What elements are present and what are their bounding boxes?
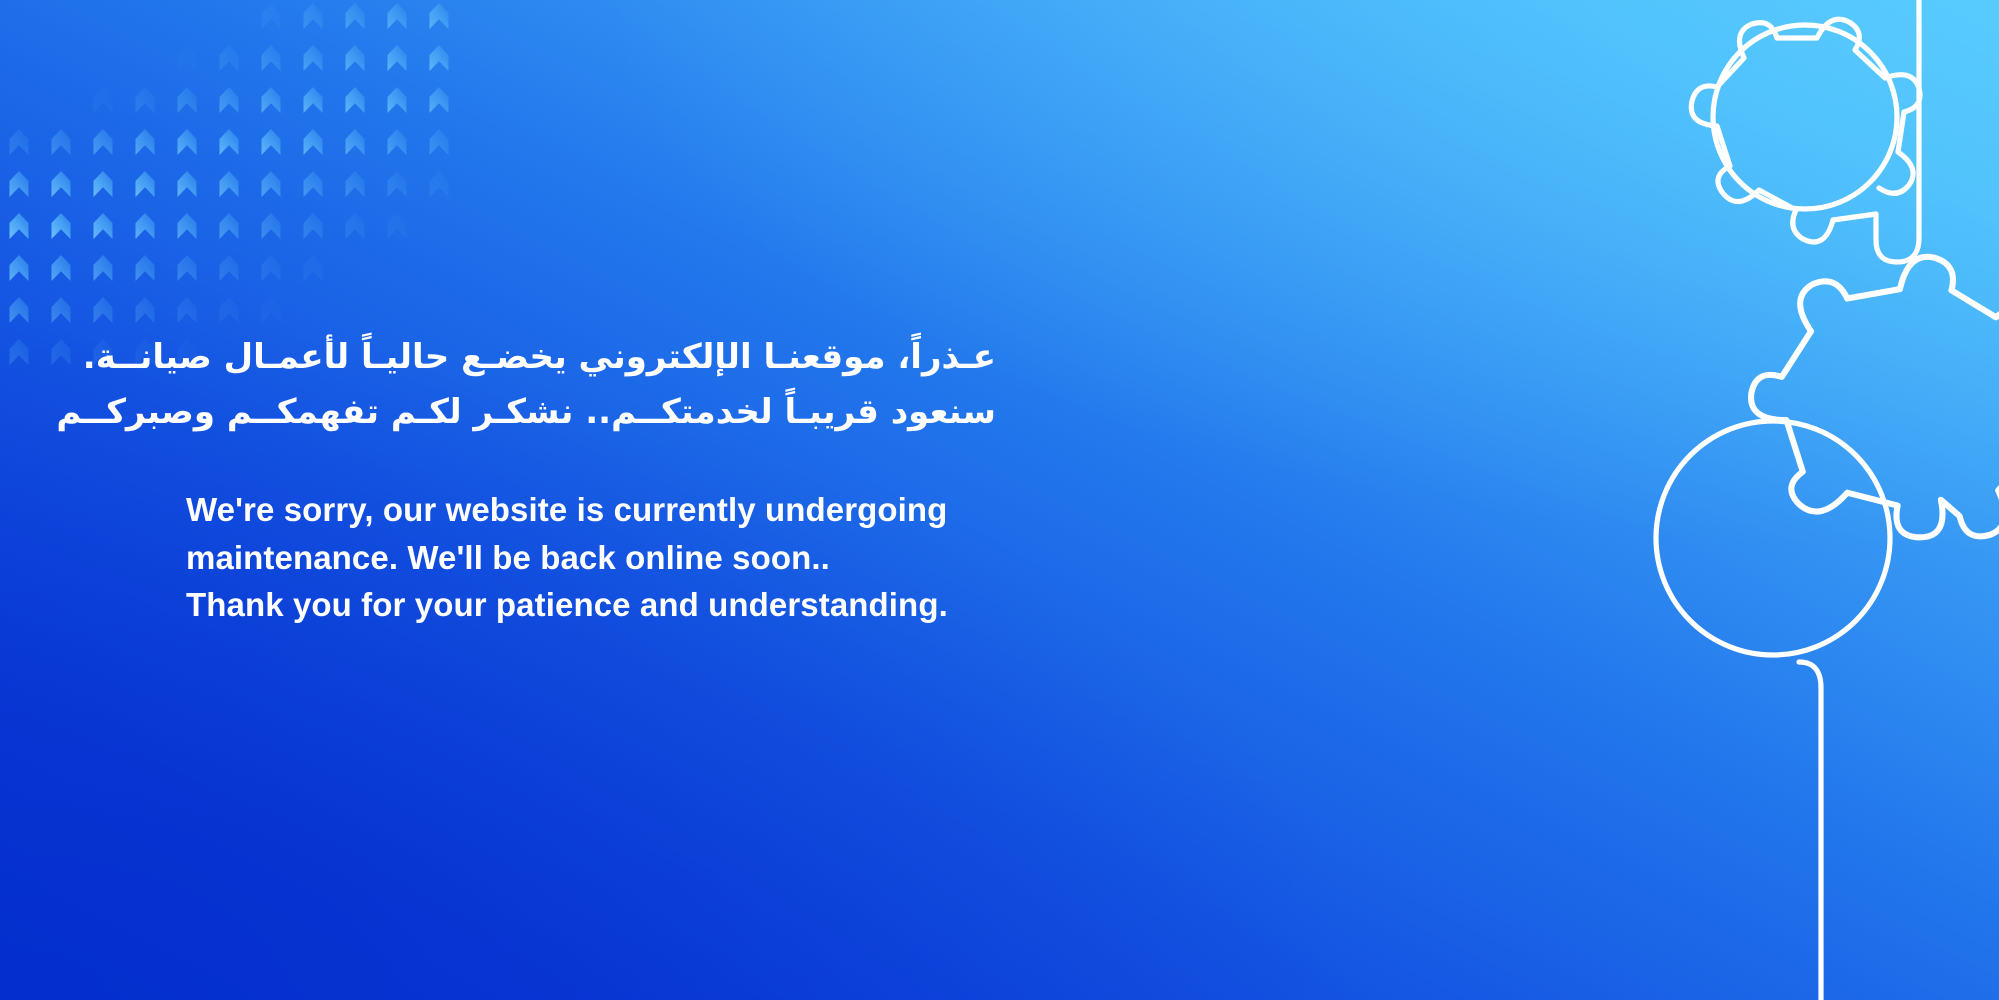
- connector-line-bottom: [1799, 662, 1821, 1000]
- arabic-message: عـذراً، موقعنـا الإلكتروني يخضـع حاليـاً…: [56, 330, 996, 440]
- english-line-3: Thank you for your patience and understa…: [186, 581, 1186, 629]
- gear-large-hub: [1656, 421, 1890, 655]
- english-line-1: We're sorry, our website is currently un…: [186, 486, 1186, 534]
- connector-line-top: [1876, 0, 1919, 262]
- english-line-2: maintenance. We'll be back online soon..: [186, 534, 1186, 582]
- gear-small-body: [1691, 19, 1920, 242]
- gears-illustration: [1179, 0, 1999, 1000]
- gear-small-hub: [1713, 25, 1897, 209]
- english-message: We're sorry, our website is currently un…: [186, 486, 1186, 629]
- gear-large: [1751, 257, 1999, 538]
- arabic-line-2: سنعود قريبـاً لخدمتكــم.. نشكـر لكـم تفه…: [56, 385, 996, 440]
- maintenance-page: عـذراً، موقعنـا الإلكتروني يخضـع حاليـاً…: [0, 0, 1999, 1000]
- message-block: عـذراً، موقعنـا الإلكتروني يخضـع حاليـاً…: [186, 330, 1186, 629]
- arabic-line-1: عـذراً، موقعنـا الإلكتروني يخضـع حاليـاً…: [56, 330, 996, 385]
